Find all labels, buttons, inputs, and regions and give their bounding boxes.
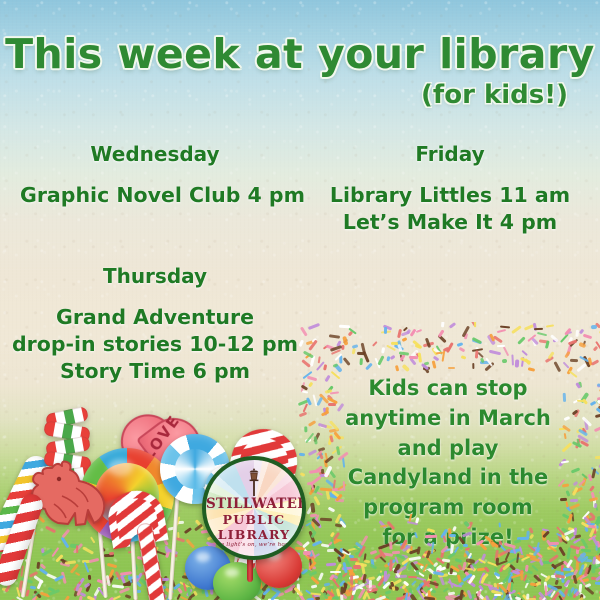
sprinkle [502,346,508,356]
sprinkle [317,357,320,364]
sprinkle [394,556,399,563]
sprinkle [530,557,541,562]
sprinkle [576,363,587,373]
sprinkle [402,336,408,341]
promo-line: anytime in March [296,404,600,434]
sprinkle [566,547,571,559]
sprinkle [563,579,570,587]
sprinkle [513,539,521,544]
sprinkle [554,361,562,372]
sprinkle [448,322,455,328]
sprinkle [517,337,526,346]
sprinkle [343,336,349,346]
sprinkle [497,329,507,334]
sprinkle [353,565,361,569]
sprinkle [457,575,462,584]
sprinkle [537,332,547,337]
sprinkle [511,325,522,334]
sprinkle [428,573,432,578]
sprinkle [583,516,591,525]
sprinkle [431,360,436,369]
sprinkle [395,365,399,372]
sprinkle [460,355,466,360]
sprinkle [381,347,385,353]
sprinkle [502,359,508,363]
promo-line: and play [296,434,600,464]
event-detail-line: Grand Adventure [10,304,300,331]
sprinkle [383,571,386,582]
sprinkle [595,563,600,567]
sprinkle [375,595,387,600]
sprinkle [521,350,528,357]
sprinkle [441,322,445,327]
event-detail-line: Let’s Make It 4 pm [310,209,590,236]
sprinkle [559,547,567,557]
sprinkle [300,326,308,336]
sprinkle [340,594,343,600]
sprinkle [329,334,340,338]
sprinkle [569,359,577,362]
sprinkle [408,514,412,521]
sprinkle [459,590,463,600]
sprinkle [425,534,437,538]
sprinkle [474,322,476,327]
sprinkle [415,517,419,523]
promo-line: Kids can stop [296,374,600,404]
sprinkle [485,595,492,600]
event-detail-line: drop-in stories 10-12 pm [10,331,300,358]
sprinkle [515,360,519,368]
sprinkle [583,333,593,339]
sprinkle [465,547,471,551]
event-day-label: Friday [310,143,590,166]
sprinkle [384,327,387,334]
sprinkle [549,554,560,563]
sprinkle [415,570,419,576]
sprinkle [493,572,500,577]
sprinkle [489,350,501,355]
sprinkle [529,533,534,539]
sprinkle [463,520,469,526]
logo-line-2: PUBLIC [206,512,302,527]
sprinkle [566,514,573,524]
sprinkle [402,364,410,372]
green-gumball [213,562,261,600]
logo-tagline: If the light’s on, we’re home... [206,542,302,548]
sprinkle [576,330,580,337]
sprinkle [343,357,351,366]
sprinkle [365,363,373,371]
sprinkle [301,359,311,368]
sprinkle [298,340,304,347]
sprinkle [417,546,422,554]
sprinkle [339,325,350,329]
sprinkle [392,551,401,554]
page-subtitle: (for kids!) [421,82,568,108]
sprinkle [535,581,541,586]
sprinkle [335,514,342,523]
sprinkle [445,342,453,353]
sprinkle [595,574,600,582]
sprinkle [550,334,559,342]
sprinkle [308,323,320,330]
promo-line: Candyland in the [296,463,600,493]
sprinkle [527,367,534,371]
sprinkle [352,349,356,355]
event-block-friday: Friday Library Littles 11 am Let’s Make … [310,143,590,236]
sprinkle [567,589,572,597]
sprinkle [584,567,590,577]
sprinkle [463,543,468,547]
sprinkle [424,596,435,600]
library-logo-badge: STILLWATER PUBLIC LIBRARY If the light’s… [202,456,306,560]
sprinkle [438,329,445,338]
sprinkle [440,546,448,554]
sprinkle [389,542,392,550]
event-detail-line: Library Littles 11 am [310,182,590,209]
sprinkle [350,557,358,560]
sprinkle [562,568,571,571]
sprinkle [323,365,327,371]
event-detail-line: Story Time 6 pm [10,358,300,385]
sprinkle [511,354,514,365]
sprinkle [450,565,460,572]
sprinkle [591,536,599,547]
sprinkle [364,559,371,563]
sprinkle [544,574,551,581]
sprinkle [562,362,569,369]
sprinkle [433,571,445,576]
sprinkle [570,535,576,541]
sprinkle [372,341,378,347]
sprinkle [524,565,527,572]
sprinkle [410,594,419,600]
library-flyer-poster: This week at your library (for kids!) We… [0,0,600,600]
sprinkle [359,358,363,365]
sprinkle [391,582,395,588]
sprinkle [436,565,443,571]
sprinkle [546,324,554,327]
sprinkle [416,329,422,333]
sprinkle [527,545,535,553]
sprinkle [448,367,455,369]
sprinkle [591,360,600,367]
page-title: This week at your library [0,34,600,75]
event-day-label: Wednesday [20,143,290,166]
sprinkle [382,582,390,590]
sprinkle [534,328,543,331]
sprinkle [548,542,559,545]
sprinkle [564,572,573,578]
sprinkle [565,351,572,359]
logo-line-3: LIBRARY [206,527,302,542]
event-day-label: Thursday [10,265,300,288]
sprinkle [498,522,501,527]
event-block-wednesday: Wednesday Graphic Novel Club 4 pm [20,143,290,209]
event-detail-line: Graphic Novel Club 4 pm [20,182,290,209]
subtitle-text: (for kids!) [421,82,568,108]
sprinkle [448,528,451,538]
title-text: This week at your library [0,34,600,75]
sprinkle [395,596,403,600]
sprinkle [496,558,499,565]
sprinkle [418,352,422,362]
sprinkle [532,564,539,571]
sprinkle [459,347,465,352]
sprinkle [462,532,472,538]
lamp-post-icon [243,467,265,497]
sprinkle [409,355,419,358]
sprinkle [593,346,599,352]
sprinkle [414,532,418,538]
sprinkle [472,363,475,369]
sprinkle [409,556,421,561]
sprinkle [516,553,520,563]
logo-line-1: STILLWATER [206,496,302,512]
sprinkle [455,558,462,563]
sprinkle [370,550,377,555]
sprinkle [378,355,385,365]
event-block-thursday: Thursday Grand Adventure drop-in stories… [10,265,300,385]
sprinkle [452,525,457,531]
